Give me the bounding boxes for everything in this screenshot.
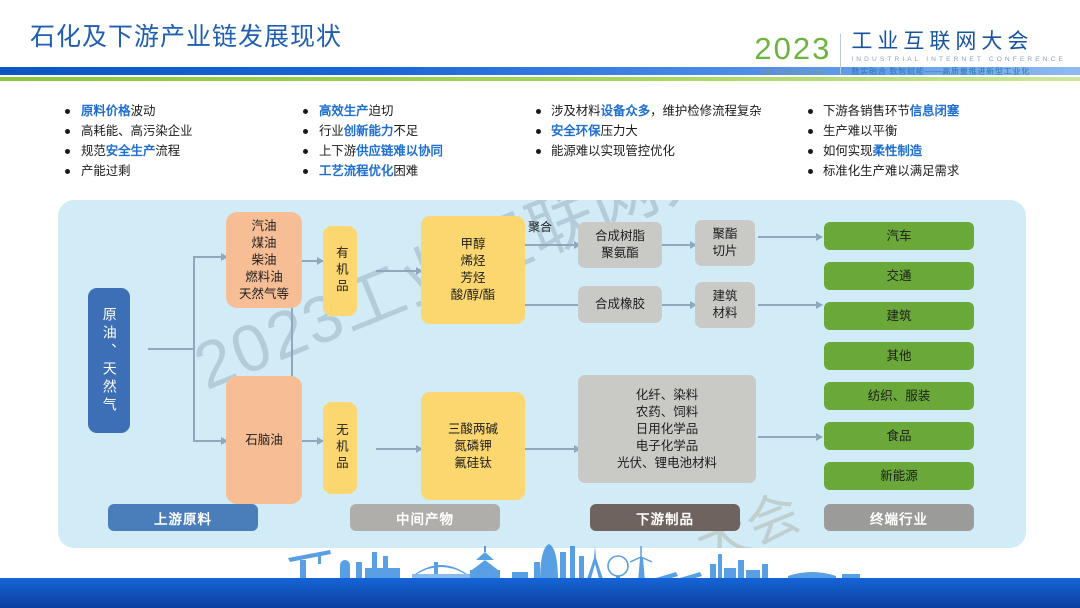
conference-logo: 2023 中国·常州 8月14日-15日 工业互联网大会 INDUSTRIAL …: [754, 26, 1066, 82]
logo-year: 2023: [754, 33, 831, 64]
stage-tag-upstream[interactable]: 上游原料: [108, 504, 258, 531]
footer-water-band: [0, 578, 1080, 608]
arrow-crude-to-fuels: [193, 256, 227, 258]
node-industry-other[interactable]: 其他: [824, 342, 974, 370]
node-industry-transport[interactable]: 交通: [824, 262, 974, 290]
bullet-pre: 规范: [81, 144, 106, 158]
logo-title-en: INDUSTRIAL INTERNET CONFERENCE: [851, 56, 1066, 63]
node-building-materials[interactable]: 建筑 材料: [695, 282, 755, 328]
node-inorganic-products[interactable]: 三酸两碱 氮磷钾 氟硅钛: [421, 392, 525, 500]
node-industry-automotive[interactable]: 汽车: [824, 222, 974, 250]
bullet-column-4: 下游各销售环节信息闭塞 生产难以平衡 如何实现柔性制造 标准化生产难以满足需求: [808, 103, 1058, 183]
bullet-item: 下游各销售环节信息闭塞: [808, 103, 1058, 120]
bullet-item: 工艺流程优化困难: [300, 163, 535, 180]
bullet-item: 能源难以实现管控优化: [536, 143, 786, 160]
edge-label-polymerize: 聚合: [528, 218, 552, 235]
arrow-rubber-to-building: [658, 304, 696, 306]
node-synthetic-rubber[interactable]: 合成橡胶: [578, 286, 662, 323]
node-organic-products[interactable]: 甲醇 烯烃 芳烃 酸/醇/酯: [421, 216, 525, 324]
page-header: 石化及下游产业链发展现状 2023 中国·常州 8月14日-15日 工业互联网大…: [0, 0, 1080, 92]
bullet-list: 涉及材料设备众多，维护检修流程复杂 安全环保压力大 能源难以实现管控优化: [536, 103, 786, 160]
node-crude-oil[interactable]: 原油、天然气: [88, 288, 130, 433]
node-organic[interactable]: 有机品: [323, 226, 357, 316]
bullet-post: 迫切: [369, 104, 394, 118]
bullet-highlight: 柔性制造: [873, 144, 923, 158]
bullet-item: 生产难以平衡: [808, 123, 1058, 140]
bullet-pre: 标准化生产难以满足需求: [823, 164, 959, 178]
bullet-item: 高耗能、高污染企业: [62, 123, 297, 140]
bullet-pre: 下游各销售环节: [823, 104, 910, 118]
bullet-post: 压力大: [601, 124, 638, 138]
bullet-item: 规范安全生产流程: [62, 143, 297, 160]
logo-slogan: 数实融合 数智赋能——高质量推进新型工业化: [851, 65, 1066, 77]
bullet-item: 涉及材料设备众多，维护检修流程复杂: [536, 103, 786, 120]
node-industry-construction[interactable]: 建筑: [824, 302, 974, 330]
bullet-post: ，维护检修流程复杂: [650, 104, 762, 118]
node-synthetic-resin[interactable]: 合成树脂 聚氨酯: [578, 222, 662, 268]
bullet-item: 上下游供应链难以协同: [300, 143, 535, 160]
arrow-products-to-resin: [520, 244, 580, 246]
bullet-pre: 行业: [319, 124, 344, 138]
bullet-highlight: 创新能力: [344, 124, 394, 138]
stage-tag-downstream[interactable]: 下游制品: [590, 504, 740, 531]
bullet-highlight: 工艺流程优化: [319, 164, 393, 178]
bullet-pre: 上下游: [319, 144, 356, 158]
page-footer: [0, 546, 1080, 608]
city-skyline-graphic: [0, 544, 1080, 582]
bullet-item: 行业创新能力不足: [300, 123, 535, 140]
node-industry-new-energy[interactable]: 新能源: [824, 462, 974, 490]
arrow-organic-to-products: [376, 270, 422, 272]
bullet-highlight: 高效生产: [319, 104, 369, 118]
node-industry-textile[interactable]: 纺织、服装: [824, 382, 974, 410]
bullet-post: 波动: [131, 104, 156, 118]
bullet-post: 困难: [393, 164, 418, 178]
bullet-column-3: 涉及材料设备众多，维护检修流程复杂 安全环保压力大 能源难以实现管控优化: [536, 103, 786, 163]
logo-year-subtitle: 中国·常州 8月14日-15日: [760, 68, 825, 76]
bullet-pre: 生产难以平衡: [823, 124, 897, 138]
bullet-item: 安全环保压力大: [536, 123, 786, 140]
node-downstream-chemicals[interactable]: 化纤、染料 农药、饲料 日用化学品 电子化学品 光伏、锂电池材料: [578, 375, 756, 483]
connector-products-to-rubber: [520, 304, 580, 306]
node-polyester-chips[interactable]: 聚酯 切片: [695, 220, 755, 266]
bullet-highlight: 供应链难以协同: [356, 144, 443, 158]
node-industry-food[interactable]: 食品: [824, 422, 974, 450]
logo-title-cn: 工业互联网大会: [851, 31, 1066, 53]
node-refined-fuels[interactable]: 汽油 煤油 柴油 燃料油 天然气等: [226, 212, 302, 308]
bullet-pre: 产能过剩: [81, 164, 131, 178]
connector-crude-vertical: [193, 256, 195, 441]
bullet-item: 标准化生产难以满足需求: [808, 163, 1058, 180]
page-title: 石化及下游产业链发展现状: [30, 17, 342, 53]
arrow-chemicals-to-industry: [758, 436, 822, 438]
bullet-highlight: 安全生产: [106, 144, 156, 158]
bullet-highlight: 信息闭塞: [910, 104, 960, 118]
bullet-list: 高效生产迫切 行业创新能力不足 上下游供应链难以协同 工艺流程优化困难: [300, 103, 535, 180]
bullet-item: 产能过剩: [62, 163, 297, 180]
node-naphtha[interactable]: 石脑油: [226, 376, 302, 504]
arrow-inorganic-to-products: [376, 448, 422, 450]
bullet-list: 下游各销售环节信息闭塞 生产难以平衡 如何实现柔性制造 标准化生产难以满足需求: [808, 103, 1058, 180]
bullet-column-1: 原料价格波动 高耗能、高污染企业 规范安全生产流程 产能过剩: [62, 103, 297, 183]
bullet-item: 原料价格波动: [62, 103, 297, 120]
stage-tag-intermediate[interactable]: 中间产物: [350, 504, 500, 531]
arrow-inorganic-to-chemicals: [520, 448, 580, 450]
bullet-highlight: 原料价格: [81, 104, 131, 118]
bullet-pre: 涉及材料: [551, 104, 601, 118]
bullet-item: 如何实现柔性制造: [808, 143, 1058, 160]
node-inorganic[interactable]: 无机品: [323, 402, 357, 494]
connector-crude-split: [148, 348, 194, 350]
arrow-polyester-to-industry: [758, 236, 822, 238]
bullet-post: 不足: [393, 124, 418, 138]
logo-year-block: 2023 中国·常州 8月14日-15日: [754, 33, 840, 76]
arrow-resin-to-polyester: [658, 244, 696, 246]
bullet-item: 高效生产迫切: [300, 103, 535, 120]
bullet-column-2: 高效生产迫切 行业创新能力不足 上下游供应链难以协同 工艺流程优化困难: [300, 103, 535, 183]
bullet-list: 原料价格波动 高耗能、高污染企业 规范安全生产流程 产能过剩: [62, 103, 297, 180]
issue-bullet-columns: 原料价格波动 高耗能、高污染企业 规范安全生产流程 产能过剩 高效生产迫切 行业…: [0, 103, 1080, 191]
value-chain-diagram: 2023工业互联网大会 大会 聚合 原油、天然气 汽油 煤油 柴油 燃料油 天然…: [58, 200, 1026, 548]
stage-tag-end-industry[interactable]: 终端行业: [824, 504, 974, 531]
bullet-pre: 如何实现: [823, 144, 873, 158]
arrow-building-to-industry: [758, 304, 822, 306]
bullet-highlight: 安全环保: [551, 124, 601, 138]
bullet-pre: 能源难以实现管控优化: [551, 144, 675, 158]
logo-text-block: 工业互联网大会 INDUSTRIAL INTERNET CONFERENCE 数…: [841, 31, 1066, 76]
bullet-highlight: 设备众多: [601, 104, 651, 118]
bullet-post: 流程: [155, 144, 180, 158]
bullet-pre: 高耗能、高污染企业: [81, 124, 193, 138]
arrow-crude-to-naphtha: [193, 440, 227, 442]
